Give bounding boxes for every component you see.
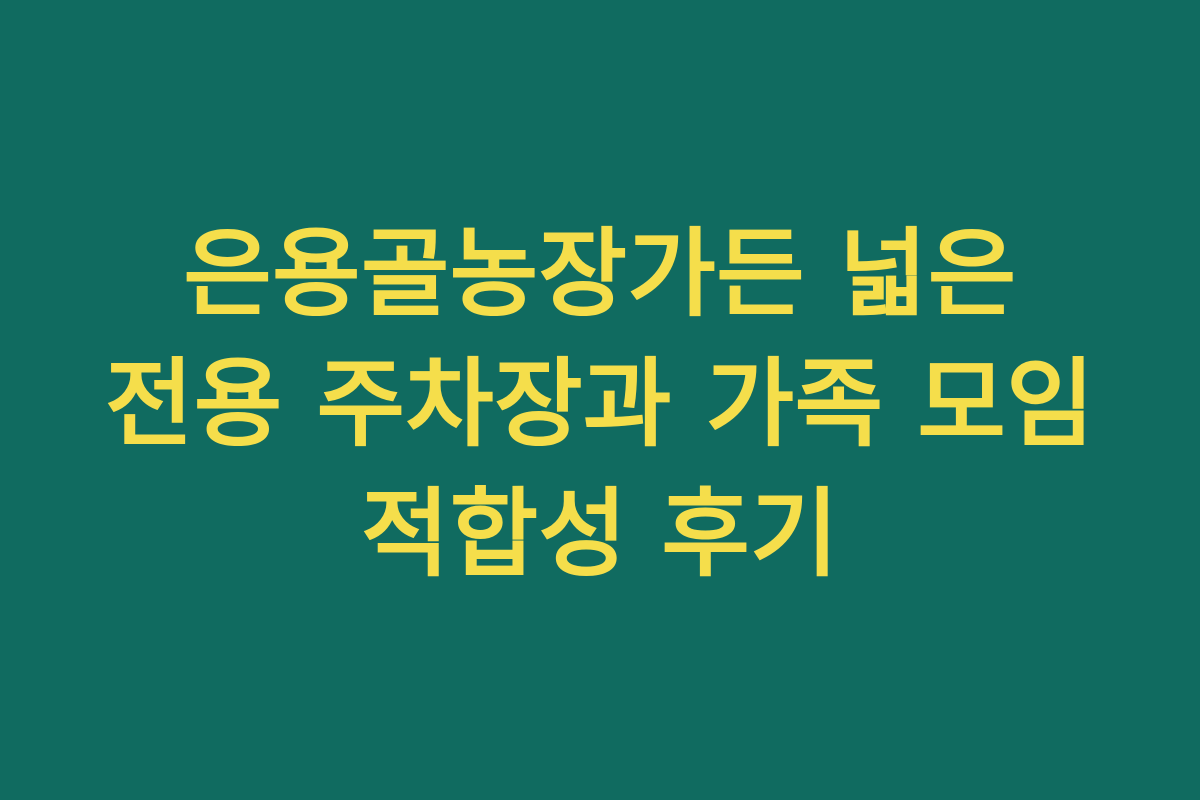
page-title: 은용골농장가든 넓은 전용 주차장과 가족 모임 적합성 후기 — [80, 209, 1120, 599]
poster-canvas: 은용골농장가든 넓은 전용 주차장과 가족 모임 적합성 후기 — [0, 0, 1200, 800]
headline-block: 은용골농장가든 넓은 전용 주차장과 가족 모임 적합성 후기 — [80, 209, 1120, 599]
